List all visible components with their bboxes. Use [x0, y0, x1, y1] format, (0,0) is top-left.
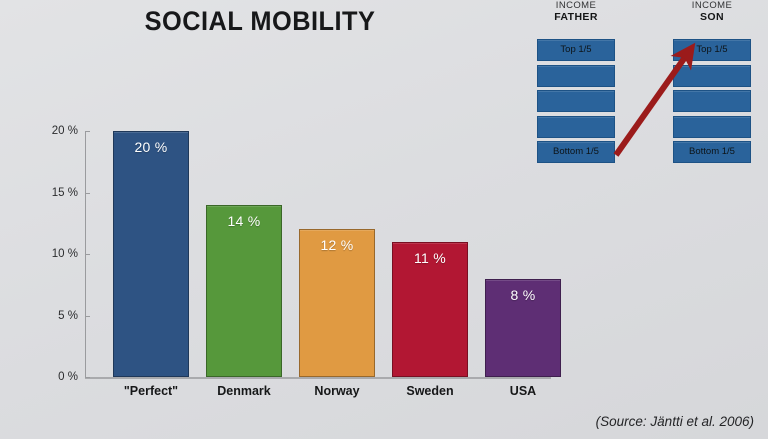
ladder-rung-label: Top 1/5 [538, 40, 614, 60]
bar-group: 14 % [206, 131, 282, 377]
bar-value-label: 20 % [114, 139, 188, 155]
income-ladder-father: INCOME FATHER Top 1/5Bottom 1/5 [537, 0, 615, 24]
ladder-rung-father-5: Bottom 1/5 [537, 141, 615, 163]
ladder-rung-label: Bottom 1/5 [674, 142, 750, 162]
ladder-rung-father-4 [537, 116, 615, 138]
bar[interactable]: 8 % [485, 279, 561, 377]
y-axis-tick-mark [85, 193, 90, 194]
ladder-who-father: FATHER [537, 11, 615, 23]
ladder-rungs-father: Top 1/5Bottom 1/5 [537, 39, 615, 163]
ladder-who-son: SON [673, 11, 751, 23]
source-attribution: (Source: Jäntti et al. 2006) [596, 414, 754, 429]
income-ladder-diagram: INCOME FATHER Top 1/5Bottom 1/5 INCOME S… [525, 0, 768, 180]
x-axis-category-label: Sweden [382, 384, 478, 398]
bar-group: 20 % [113, 131, 189, 377]
income-ladder-son: INCOME SON Top 1/5Bottom 1/5 [673, 0, 751, 24]
ladder-rung-label: Bottom 1/5 [538, 142, 614, 162]
y-axis-tick-label: 0 % [32, 371, 78, 383]
bar-value-label: 8 % [486, 287, 560, 303]
y-axis-tick-mark [85, 131, 90, 132]
y-axis-tick-label: 10 % [32, 248, 78, 260]
x-axis-line [85, 377, 551, 379]
x-axis-category-label: "Perfect" [103, 384, 199, 398]
plot-area: 20 %14 %12 %11 %8 % [85, 131, 551, 377]
ladder-rung-father-1: Top 1/5 [537, 39, 615, 61]
ladder-rung-son-4 [673, 116, 751, 138]
ladder-header-father: INCOME FATHER [537, 0, 615, 24]
ladder-rung-label: Top 1/5 [674, 40, 750, 60]
y-axis-tick-label: 20 % [32, 125, 78, 137]
x-axis-category-label: Denmark [196, 384, 292, 398]
ladder-rung-son-2 [673, 65, 751, 87]
y-axis-tick-label: 5 % [32, 310, 78, 322]
bar-value-label: 14 % [207, 213, 281, 229]
bar[interactable]: 14 % [206, 205, 282, 377]
y-axis-tick-mark [85, 254, 90, 255]
bar-value-label: 11 % [393, 250, 467, 266]
bar[interactable]: 12 % [299, 229, 375, 377]
x-axis-category-label: Norway [289, 384, 385, 398]
y-axis-tick-mark [85, 316, 90, 317]
bar-value-label: 12 % [300, 237, 374, 253]
slide-canvas: SOCIAL MOBILITY 0 %5 %10 %15 %20 % 20 %1… [0, 0, 768, 439]
ladder-kicker-son: INCOME [673, 0, 751, 11]
bar[interactable]: 20 % [113, 131, 189, 377]
ladder-kicker-father: INCOME [537, 0, 615, 11]
ladder-rung-son-3 [673, 90, 751, 112]
bar[interactable]: 11 % [392, 242, 468, 377]
y-axis-tick-mark [85, 377, 90, 378]
ladder-header-son: INCOME SON [673, 0, 751, 24]
ladder-rungs-son: Top 1/5Bottom 1/5 [673, 39, 751, 163]
x-axis-category-label: USA [475, 384, 571, 398]
bar-group: 12 % [299, 131, 375, 377]
ladder-rung-father-2 [537, 65, 615, 87]
y-axis-labels: 0 %5 %10 %15 %20 % [30, 0, 78, 400]
bar-group: 11 % [392, 131, 468, 377]
ladder-rung-son-5: Bottom 1/5 [673, 141, 751, 163]
ladder-rung-father-3 [537, 90, 615, 112]
y-axis-tick-label: 15 % [32, 187, 78, 199]
ladder-rung-son-1: Top 1/5 [673, 39, 751, 61]
bar-chart: 0 %5 %10 %15 %20 % 20 %14 %12 %11 %8 % "… [0, 0, 560, 400]
